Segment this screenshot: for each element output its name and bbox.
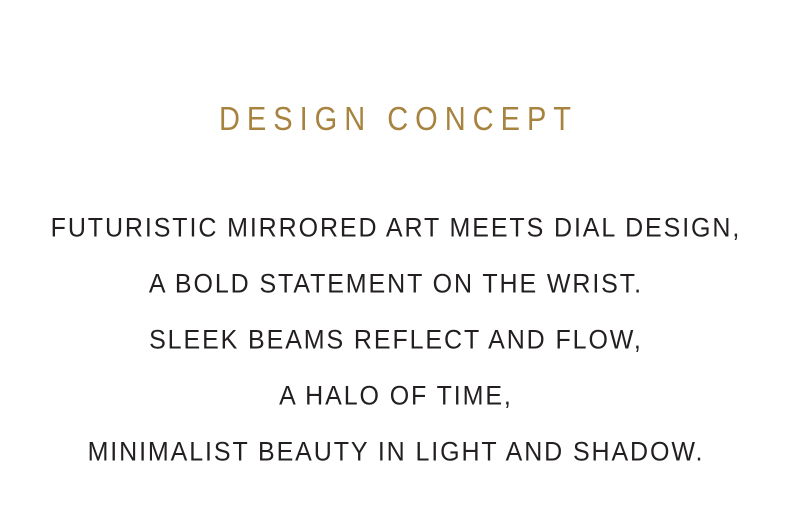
concept-line-3: SLEEK BEAMS REFLECT AND FLOW,: [147, 310, 643, 369]
concept-body: FUTURISTIC MIRRORED ART MEETS DIAL DESIG…: [0, 200, 790, 480]
concept-line-1: FUTURISTIC MIRRORED ART MEETS DIAL DESIG…: [49, 198, 741, 257]
concept-line-5: MINIMALIST BEAUTY IN LIGHT AND SHADOW.: [86, 422, 705, 481]
design-concept-slide: DESIGN CONCEPT FUTURISTIC MIRRORED ART M…: [0, 0, 790, 524]
page-title-text: DESIGN CONCEPT: [212, 104, 578, 137]
page-title: DESIGN CONCEPT: [0, 0, 790, 140]
concept-line-2: A BOLD STATEMENT ON THE WRIST.: [147, 254, 643, 313]
concept-line-4: A HALO OF TIME,: [277, 366, 513, 425]
